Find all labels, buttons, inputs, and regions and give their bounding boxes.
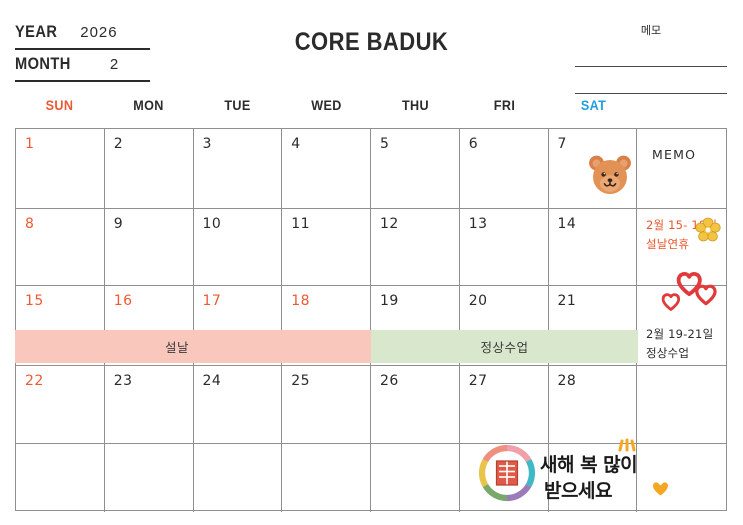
event-band-seollal-label: 설날 <box>165 337 189 356</box>
day-cell-13[interactable]: 13 <box>460 209 549 286</box>
memo-panel-title: MEMO <box>652 147 696 162</box>
weekday-header-thu: THU <box>375 96 455 126</box>
weekday-header-wed: WED <box>286 96 366 126</box>
day-number: 6 <box>469 136 478 152</box>
event-band-normal-class[interactable]: 정상수업 <box>371 330 638 363</box>
memo-note-class-line-2: 정상수업 <box>646 344 713 363</box>
day-number: 3 <box>203 136 212 152</box>
day-number: 20 <box>469 293 488 309</box>
day-cell-8[interactable]: 8 <box>16 209 105 286</box>
day-cell-23[interactable]: 23 <box>105 366 194 444</box>
memo-column-cell <box>637 129 726 209</box>
day-cell-3[interactable]: 3 <box>194 129 283 209</box>
month-value: 2 <box>110 56 119 73</box>
day-number: 11 <box>291 216 310 232</box>
weekday-header-sun: SUN <box>19 96 99 126</box>
day-cell-27[interactable]: 27 <box>460 366 549 444</box>
weekday-header: SUNMONTUEWEDTHUFRISAT <box>15 96 727 126</box>
day-number: 25 <box>291 373 310 389</box>
month-field[interactable]: MONTH 2 <box>15 54 150 82</box>
day-number: 5 <box>380 136 389 152</box>
orange-heart-icon <box>652 480 669 497</box>
fortune-badge-icon <box>478 444 536 502</box>
new-year-greeting-line-1: 새해 복 많이 <box>540 450 637 477</box>
day-cell-6[interactable]: 6 <box>460 129 549 209</box>
event-band-normal-class-label: 정상수업 <box>480 337 528 356</box>
day-number: 26 <box>380 373 399 389</box>
bear-face-icon <box>587 152 633 198</box>
day-number: 27 <box>469 373 488 389</box>
new-year-sticker: 새해 복 많이 받으세요 <box>478 440 688 506</box>
page-header: YEAR 2026 MONTH 2 CORE BADUK 메모 <box>0 0 743 95</box>
day-number: 4 <box>291 136 300 152</box>
day-number: 12 <box>380 216 399 232</box>
day-cell-empty[interactable] <box>282 444 371 512</box>
day-cell-28[interactable]: 28 <box>549 366 638 444</box>
memo-header-line-1[interactable] <box>575 40 727 67</box>
weekday-header-tue: TUE <box>197 96 277 126</box>
day-cell-5[interactable]: 5 <box>371 129 460 209</box>
day-cell-12[interactable]: 12 <box>371 209 460 286</box>
day-cell-empty[interactable] <box>105 444 194 512</box>
day-number: 9 <box>114 216 123 232</box>
day-cell-25[interactable]: 25 <box>282 366 371 444</box>
memo-column-cell <box>637 366 726 444</box>
month-label: MONTH <box>15 54 71 74</box>
new-year-greeting-line-2: 받으세요 <box>544 476 612 503</box>
day-number: 15 <box>25 293 44 309</box>
day-cell-26[interactable]: 26 <box>371 366 460 444</box>
day-cell-22[interactable]: 22 <box>16 366 105 444</box>
memo-note-class-line-1: 2월 19-21일 <box>646 325 713 344</box>
day-cell-14[interactable]: 14 <box>549 209 638 286</box>
day-number: 17 <box>203 293 222 309</box>
day-number: 8 <box>25 216 34 232</box>
day-cell-11[interactable]: 11 <box>282 209 371 286</box>
weekday-header-sat: SAT <box>553 96 633 126</box>
memo-header-area: 메모 <box>575 22 727 94</box>
day-number: 19 <box>380 293 399 309</box>
day-number: 2 <box>114 136 123 152</box>
day-cell-9[interactable]: 9 <box>105 209 194 286</box>
day-cell-10[interactable]: 10 <box>194 209 283 286</box>
memo-header-line-2[interactable] <box>575 67 727 94</box>
memo-note-class: 2월 19-21일 정상수업 <box>646 325 713 363</box>
day-number: 21 <box>558 293 577 309</box>
day-cell-1[interactable]: 1 <box>16 129 105 209</box>
weekday-header-fri: FRI <box>464 96 544 126</box>
day-cell-empty[interactable] <box>16 444 105 512</box>
new-year-greeting: 새해 복 많이 받으세요 <box>540 440 688 506</box>
heart-cluster-icon <box>660 270 724 320</box>
day-number: 7 <box>558 136 567 152</box>
event-band-seollal[interactable]: 설날 <box>15 330 371 363</box>
weekday-header-mon: MON <box>108 96 188 126</box>
day-cell-4[interactable]: 4 <box>282 129 371 209</box>
day-number: 13 <box>469 216 488 232</box>
day-number: 10 <box>203 216 222 232</box>
day-cell-empty[interactable] <box>194 444 283 512</box>
day-number: 24 <box>203 373 222 389</box>
day-number: 18 <box>291 293 310 309</box>
weekday-header-memo <box>642 96 722 126</box>
flower-icon <box>695 217 721 243</box>
day-number: 14 <box>558 216 577 232</box>
day-number: 28 <box>558 373 577 389</box>
day-cell-2[interactable]: 2 <box>105 129 194 209</box>
day-number: 16 <box>114 293 133 309</box>
day-number: 1 <box>25 136 34 152</box>
day-cell-24[interactable]: 24 <box>194 366 283 444</box>
memo-header-label: 메모 <box>575 22 727 40</box>
day-number: 23 <box>114 373 133 389</box>
day-number: 22 <box>25 373 44 389</box>
day-cell-empty[interactable] <box>371 444 460 512</box>
